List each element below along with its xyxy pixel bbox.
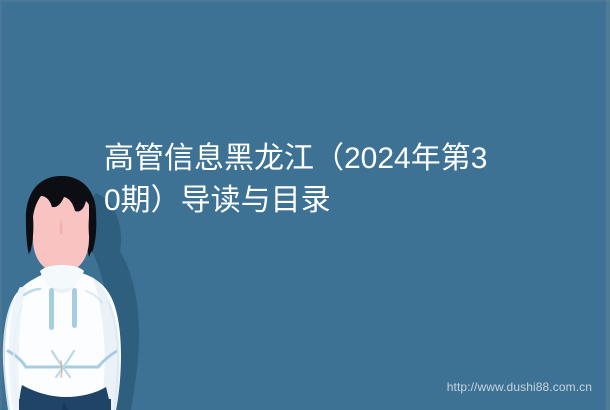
drawstring-left (49, 288, 54, 330)
title-line-2: 0期）导读与目录 (104, 180, 504, 222)
background-right-edge (606, 0, 610, 410)
watermark-url: http://www.dushi88.com.cn (447, 380, 592, 394)
drawstring-right (72, 288, 77, 328)
background-top-edge (0, 0, 610, 2)
page-title: 高管信息黑龙江（2024年第3 0期）导读与目录 (104, 138, 504, 222)
banner-canvas: 高管信息黑龙江（2024年第3 0期）导读与目录 http://www.dush… (0, 0, 610, 410)
title-line-1: 高管信息黑龙江（2024年第3 (104, 138, 504, 180)
